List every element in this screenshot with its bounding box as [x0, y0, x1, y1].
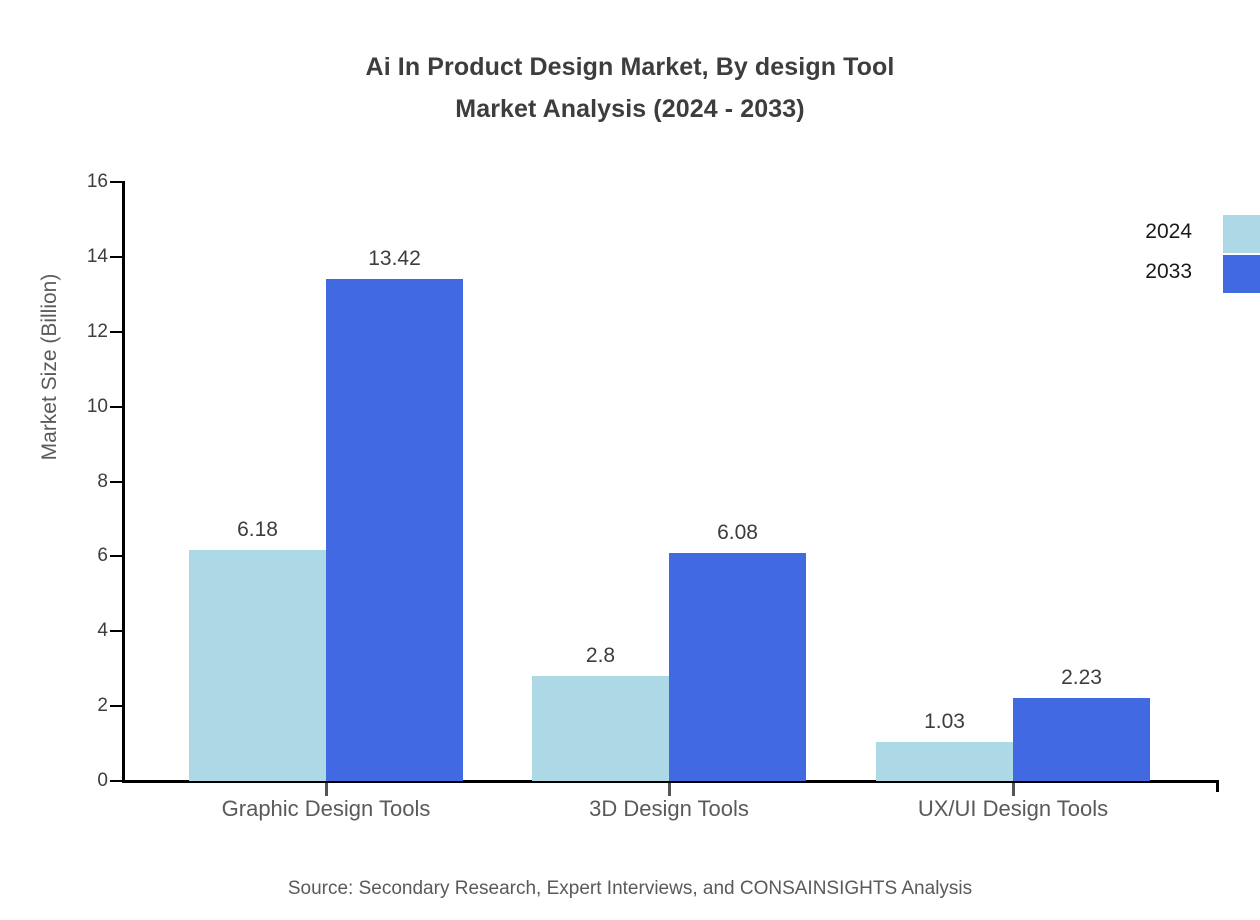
y-axis-tick-label: 10 [0, 397, 108, 416]
bar[interactable] [189, 550, 326, 781]
x-axis-tick-label: Graphic Design Tools [156, 795, 496, 823]
bar[interactable] [1013, 698, 1150, 781]
legend-label-2033: 2033 [1042, 261, 1192, 282]
source-note: Source: Secondary Research, Expert Inter… [0, 878, 1260, 900]
y-axis-tick-label: 12 [0, 322, 108, 341]
chart-title-line-1: Ai In Product Design Market, By design T… [366, 53, 895, 81]
y-axis-tick [110, 555, 122, 557]
bar-value-label: 1.03 [855, 711, 1035, 732]
bar[interactable] [532, 676, 669, 781]
legend-item-2024[interactable]: 2024 [1040, 215, 1260, 255]
y-axis-tick-label: 4 [0, 621, 108, 640]
x-axis-tick-label: 3D Design Tools [499, 795, 839, 823]
legend-item-2033[interactable]: 2033 [1040, 255, 1260, 295]
y-axis-tick-label: 8 [0, 472, 108, 491]
bar-value-label: 6.08 [648, 522, 828, 543]
y-axis-tick [110, 181, 122, 183]
bar-value-label: 2.23 [992, 667, 1172, 688]
y-axis-tick [110, 630, 122, 632]
bar-chart: Ai In Product Design Market, By design T… [0, 0, 1260, 920]
y-axis-tick-label: 6 [0, 546, 108, 565]
bar-value-label: 6.18 [168, 519, 348, 540]
y-axis-tick-label: 14 [0, 247, 108, 266]
bar-value-label: 2.8 [511, 645, 691, 666]
legend: 2024 2033 [1040, 215, 1260, 315]
y-axis-tick [110, 481, 122, 483]
y-axis-tick [110, 705, 122, 707]
x-axis-tick-label: UX/UI Design Tools [843, 795, 1183, 823]
bar-value-label: 13.42 [305, 248, 485, 269]
x-axis-end-tick [1216, 780, 1219, 792]
legend-label-2024: 2024 [1042, 221, 1192, 242]
legend-swatch-2024 [1223, 215, 1260, 253]
y-axis-tick [110, 780, 122, 782]
y-axis-tick [110, 256, 122, 258]
bar[interactable] [876, 742, 1013, 781]
y-axis-tick [110, 406, 122, 408]
y-axis-tick [110, 331, 122, 333]
y-axis-tick-label: 16 [0, 172, 108, 191]
chart-title: Ai In Product Design Market, By design T… [0, 46, 1260, 130]
y-axis-tick-label: 0 [0, 771, 108, 790]
bar[interactable] [669, 553, 806, 781]
y-axis-tick-label: 2 [0, 696, 108, 715]
legend-swatch-2033 [1223, 255, 1260, 293]
chart-title-line-2: Market Analysis (2024 - 2033) [0, 88, 1260, 130]
